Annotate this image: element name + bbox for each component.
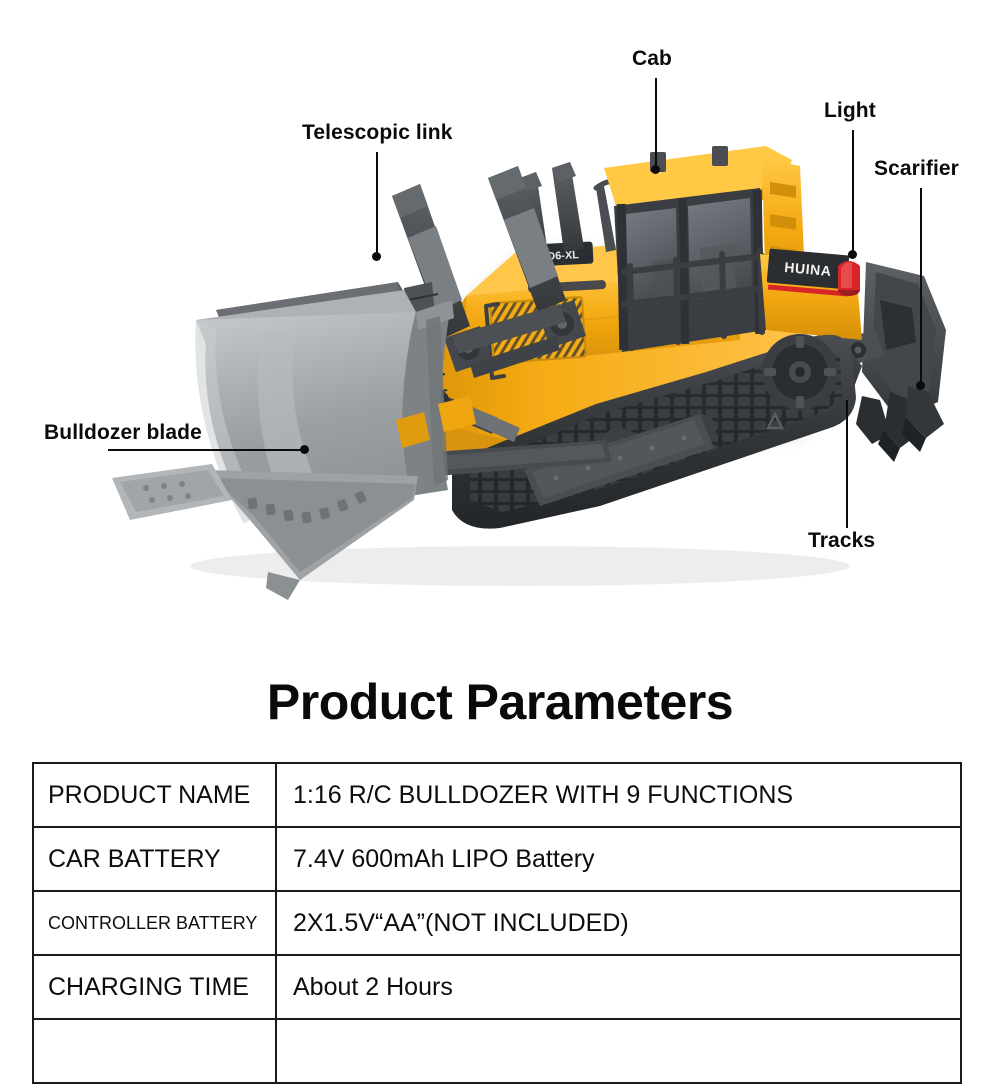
param-value: 1:16 R/C BULLDOZER WITH 9 FUNCTIONS	[276, 763, 961, 827]
table-row: CONTROLLER BATTERY 2X1.5V“AA”(NOT INCLUD…	[33, 891, 961, 955]
param-key: CONTROLLER BATTERY	[33, 891, 276, 955]
callout-dot-scarifier	[916, 381, 925, 390]
param-key: CHARGING TIME	[33, 955, 276, 1019]
table-row: PRODUCT NAME 1:16 R/C BULLDOZER WITH 9 F…	[33, 763, 961, 827]
callout-dot-light	[848, 250, 857, 259]
callout-label-telescopic-link: Telescopic link	[302, 122, 453, 143]
param-value	[276, 1019, 961, 1083]
beacon-light	[838, 261, 860, 296]
callout-label-bulldozer-blade: Bulldozer blade	[44, 422, 202, 443]
param-value: 2X1.5V“AA”(NOT INCLUDED)	[276, 891, 961, 955]
product-parameters-title: Product Parameters	[0, 677, 1000, 727]
callout-label-light: Light	[824, 100, 876, 121]
callout-dot-bulldozer-blade	[300, 445, 309, 454]
callout-label-scarifier: Scarifier	[874, 158, 959, 179]
callout-leader-light	[852, 130, 854, 255]
callout-label-cab: Cab	[632, 48, 672, 69]
callout-leader-tracks	[846, 400, 848, 528]
param-value: About 2 Hours	[276, 955, 961, 1019]
param-key: PRODUCT NAME	[33, 763, 276, 827]
callout-leader-scarifier	[920, 188, 922, 386]
product-parameters-section: Product Parameters PRODUCT NAME 1:16 R/C…	[0, 655, 1000, 1035]
callout-label-tracks: Tracks	[808, 530, 875, 551]
callout-leader-telescopic-link	[376, 152, 378, 257]
callout-dot-cab	[651, 165, 660, 174]
table-row: CHARGING TIME About 2 Hours	[33, 955, 961, 1019]
drive-sprocket	[762, 334, 838, 410]
table-row: CAR BATTERY 7.4V 600mAh LIPO Battery	[33, 827, 961, 891]
param-value: 7.4V 600mAh LIPO Battery	[276, 827, 961, 891]
param-key: CAR BATTERY	[33, 827, 276, 891]
product-hero-image: D6-XL	[0, 0, 1000, 655]
rear-deck: HUINA	[760, 249, 862, 340]
callout-dot-telescopic-link	[372, 252, 381, 261]
callout-leader-cab	[655, 78, 657, 170]
table-row	[33, 1019, 961, 1083]
param-key	[33, 1019, 276, 1083]
product-parameters-table: PRODUCT NAME 1:16 R/C BULLDOZER WITH 9 F…	[32, 762, 962, 1084]
callout-leader-bulldozer-blade	[108, 449, 306, 451]
